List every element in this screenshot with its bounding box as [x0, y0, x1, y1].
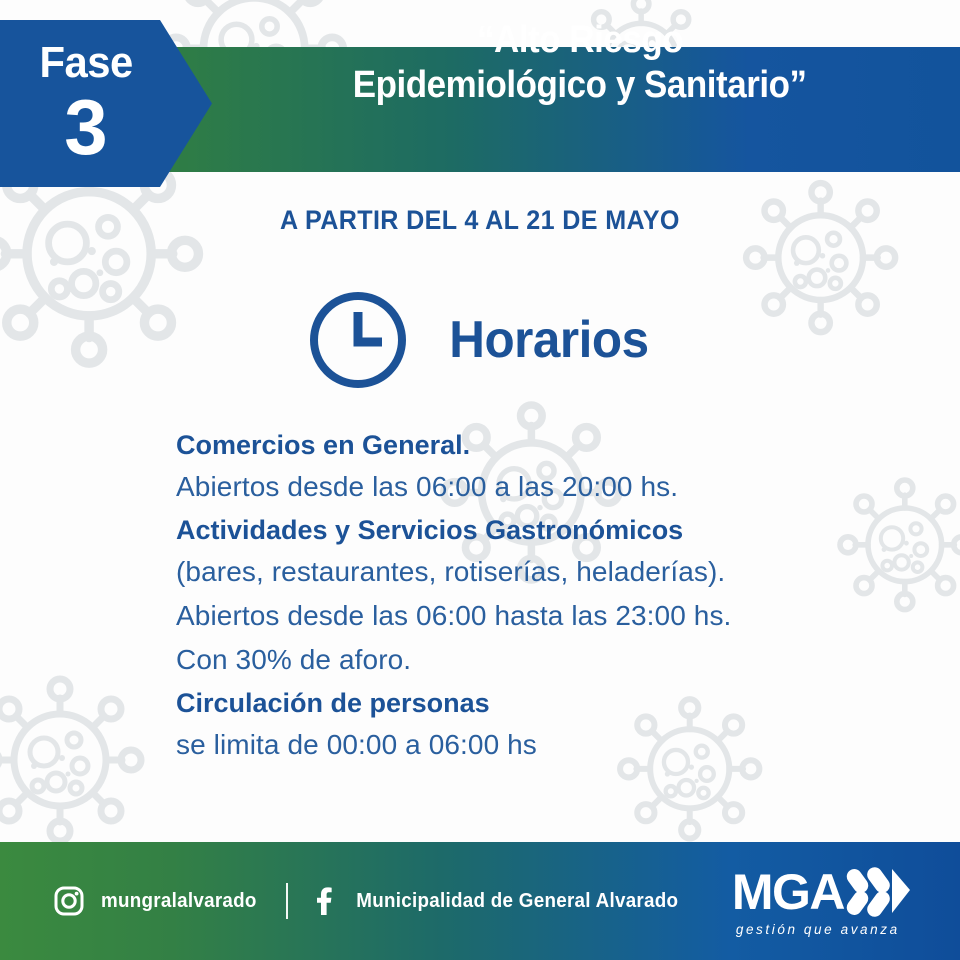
header-title: “Alto Riesgo Epidemiológico y Sanitario”	[200, 0, 960, 125]
schedule-body: Comercios en General. Abiertos desde las…	[176, 432, 876, 775]
poster-root: “Alto Riesgo Epidemiológico y Sanitario”…	[0, 0, 960, 960]
arrow-icon	[846, 866, 912, 918]
mga-tagline: gestión que avanza	[736, 922, 900, 937]
facebook-page-name[interactable]: Municipalidad de General Alvarado	[356, 890, 678, 913]
date-range-line: A PARTIR DEL 4 AL 21 DE MAYO	[0, 205, 960, 236]
header-title-line-1: “Alto Riesgo	[477, 18, 683, 63]
schedule-line: Abiertos desde las 06:00 a las 20:00 hs.	[176, 473, 876, 501]
footer-band: mungralalvarado Municipalidad de General…	[0, 842, 960, 960]
mga-logo: MGA gestión que avanza	[732, 842, 912, 960]
schedule-line: se limita de 00:00 a 06:00 hs	[176, 731, 876, 759]
schedule-line: Abiertos desde las 06:00 hasta las 23:00…	[176, 602, 876, 630]
mga-letters: MGA	[732, 869, 844, 915]
footer-divider	[286, 883, 288, 919]
schedule-line: Circulación de personas	[176, 690, 876, 717]
instagram-handle[interactable]: mungralalvarado	[101, 890, 257, 913]
schedule-heading-row: Horarios	[0, 288, 960, 392]
phase-badge-number: 3	[64, 89, 107, 165]
clock-icon	[306, 288, 410, 392]
schedule-line: Comercios en General.	[176, 432, 876, 459]
schedule-line: Con 30% de aforo.	[176, 646, 876, 674]
facebook-icon[interactable]	[312, 886, 334, 916]
date-range-text: A PARTIR DEL 4 AL 21 DE MAYO	[280, 205, 680, 236]
mga-logo-mark: MGA	[732, 866, 912, 918]
schedule-heading-label: Horarios	[449, 310, 648, 370]
footer-social-group: mungralalvarado Municipalidad de General…	[54, 842, 688, 960]
schedule-line: (bares, restaurantes, rotiserías, helade…	[176, 558, 876, 586]
instagram-icon[interactable]	[54, 886, 84, 916]
header-title-line-2: Epidemiológico y Sanitario”	[353, 63, 807, 108]
schedule-line: Actividades y Servicios Gastronómicos	[176, 517, 876, 544]
phase-badge-word: Fase	[39, 41, 132, 85]
